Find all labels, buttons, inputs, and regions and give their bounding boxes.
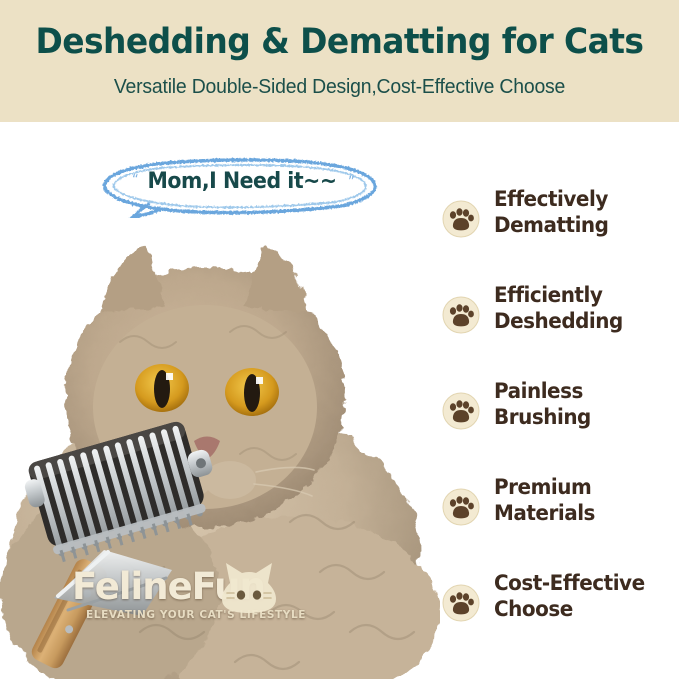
header-band: Deshedding & Dematting for Cats Versatil… bbox=[0, 0, 679, 122]
feature-label: Premium Materials bbox=[494, 474, 675, 526]
feature-label: Effectively Dematting bbox=[494, 186, 675, 238]
feature-label: Efficiently Deshedding bbox=[494, 282, 675, 334]
paw-icon bbox=[442, 488, 480, 526]
feature-item-cost-effective-choose: Cost-Effective Choose bbox=[436, 572, 679, 652]
paw-icon bbox=[442, 296, 480, 334]
page-title: Deshedding & Dematting for Cats bbox=[20, 22, 658, 62]
feature-line-1: Cost-Effective bbox=[494, 570, 675, 596]
feature-line-2: Dematting bbox=[494, 212, 675, 238]
product-infographic: Deshedding & Dematting for Cats Versatil… bbox=[0, 0, 679, 679]
feature-item-painless-brushing: Painless Brushing bbox=[436, 380, 679, 460]
feature-item-efficiently-deshedding: Efficiently Deshedding bbox=[436, 284, 679, 364]
feature-list: Effectively Dematting Efficie bbox=[436, 180, 679, 670]
feature-line-2: Brushing bbox=[494, 404, 675, 430]
feature-line-2: Deshedding bbox=[494, 308, 675, 334]
feature-line-1: Premium bbox=[494, 474, 675, 500]
feature-line-1: Effectively bbox=[494, 186, 675, 212]
feature-item-effectively-dematting: Effectively Dematting bbox=[436, 188, 679, 268]
feature-line-1: Painless bbox=[494, 378, 675, 404]
photo-stage: FelineFun ELEVATING YOUR CAT'S LIFESTYLE bbox=[0, 122, 679, 679]
feature-label: Cost-Effective Choose bbox=[494, 570, 675, 622]
paw-icon bbox=[442, 392, 480, 430]
feature-item-premium-materials: Premium Materials bbox=[436, 476, 679, 556]
callout-text: Mom,I Need it~~ bbox=[106, 169, 378, 194]
page-subtitle: Versatile Double-Sided Design,Cost-Effec… bbox=[10, 76, 669, 99]
paw-icon bbox=[442, 200, 480, 238]
cat-head-icon bbox=[218, 559, 280, 619]
feature-label: Painless Brushing bbox=[494, 378, 675, 430]
feature-line-2: Choose bbox=[494, 596, 675, 622]
brand-logo: FelineFun ELEVATING YOUR CAT'S LIFESTYLE bbox=[72, 565, 297, 640]
feature-line-1: Efficiently bbox=[494, 282, 675, 308]
paw-icon bbox=[442, 584, 480, 622]
speech-bubble-callout: “ ” Mom,I Need it~~ bbox=[96, 156, 388, 218]
feature-line-2: Materials bbox=[494, 500, 675, 526]
cat-eye-right bbox=[225, 368, 279, 416]
